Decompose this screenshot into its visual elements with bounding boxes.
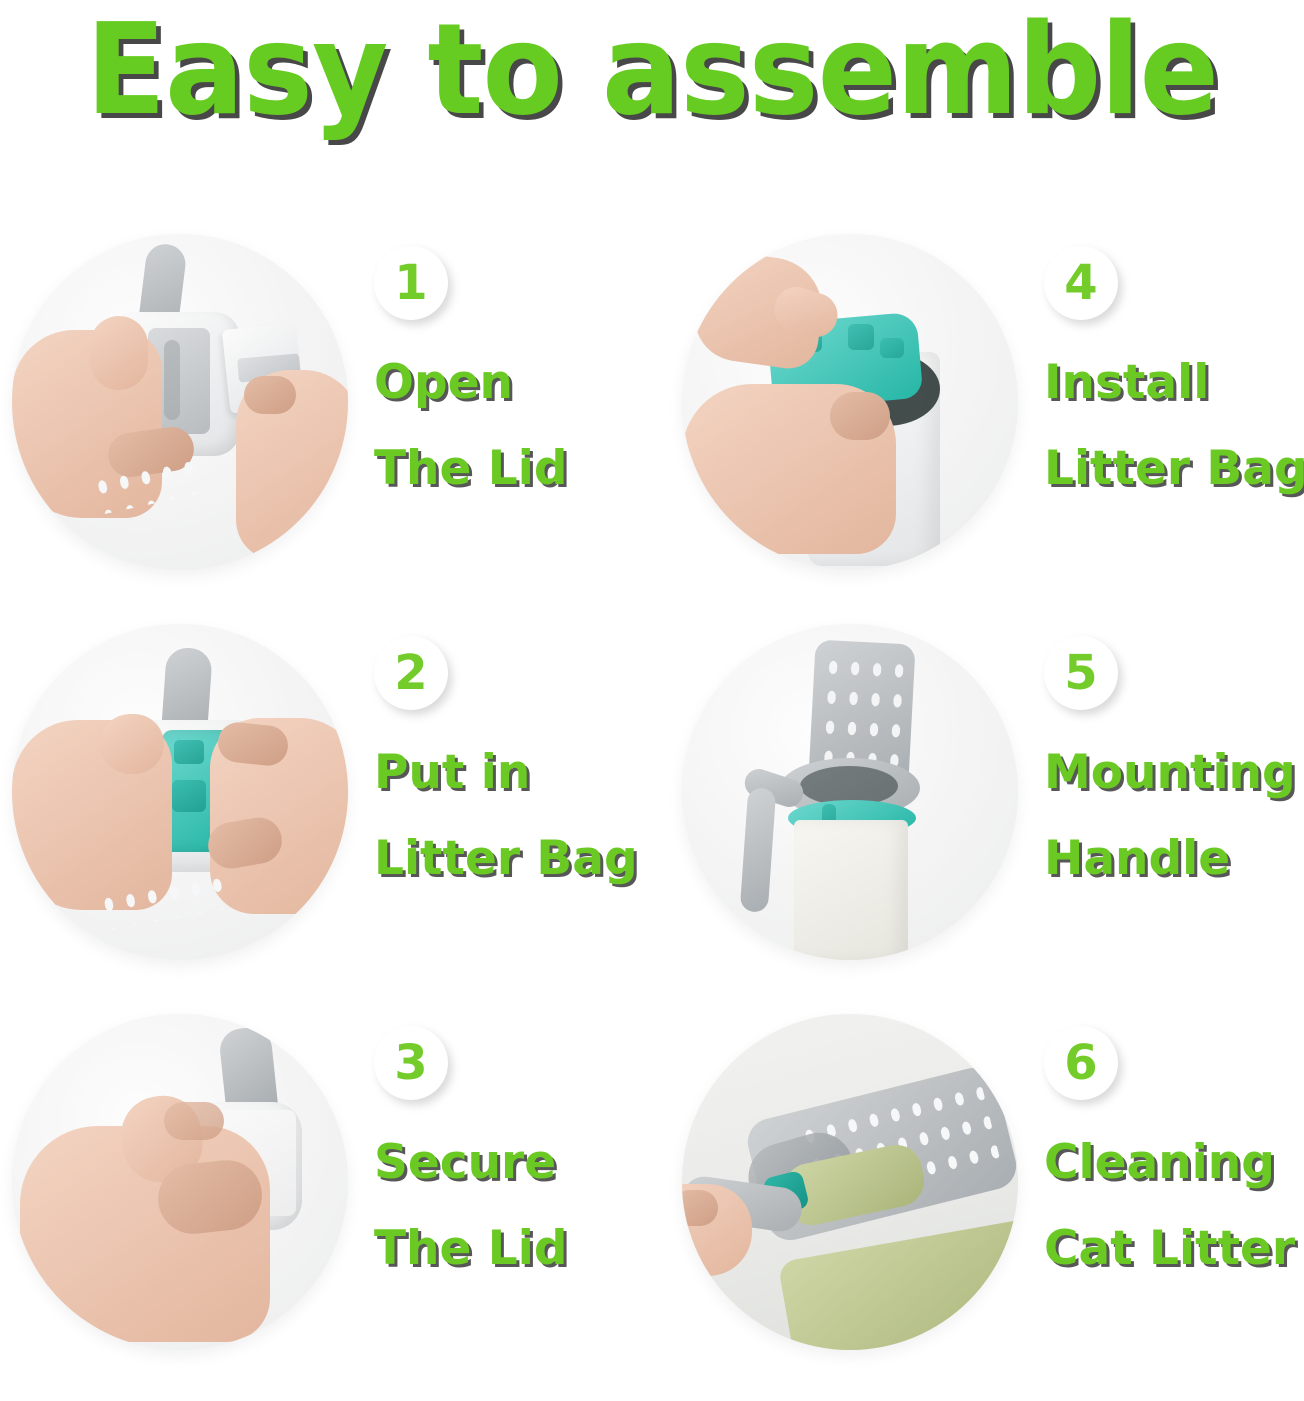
step-label-line-6a: Cleaning: [1044, 1120, 1304, 1206]
step-number-badge-4: 4: [1044, 246, 1118, 320]
step-label-line-5a: Mounting: [1044, 730, 1304, 816]
step-card-5: 5 Mounting Handle: [652, 612, 1304, 1005]
hands-installing-litter-bag-photo: [682, 234, 1018, 570]
step-photo-5: [682, 624, 1018, 960]
step-label-2: Put in Litter Bag: [374, 730, 652, 902]
step-label-4: Install Litter Bags: [1044, 340, 1304, 512]
step-number-badge-3: 3: [374, 1026, 448, 1100]
step-text-4: 4 Install Litter Bags: [1038, 222, 1304, 615]
step-number-badge-1: 1: [374, 246, 448, 320]
step-number-badge-6: 6: [1044, 1026, 1118, 1100]
step-text-6: 6 Cleaning Cat Litter: [1038, 1002, 1304, 1395]
step-row-1: 1 Open The Lid: [0, 222, 1304, 615]
step-row-2: 2 Put in Litter Bag: [0, 612, 1304, 1005]
step-label-line-6b: Cat Litter: [1044, 1206, 1304, 1292]
step-label-line-3a: Secure: [374, 1120, 652, 1206]
step-photo-2: [12, 624, 348, 960]
step-text-5: 5 Mounting Handle: [1038, 612, 1304, 1005]
step-text-2: 2 Put in Litter Bag: [368, 612, 652, 1005]
step-label-line-1a: Open: [374, 340, 652, 426]
step-label-line-2b: Litter Bag: [374, 816, 652, 902]
step-card-6: 6 Cleaning Cat Litter: [652, 1002, 1304, 1395]
scoop-mounted-on-container-photo: [682, 624, 1018, 960]
step-number-badge-5: 5: [1044, 636, 1118, 710]
step-label-line-1b: The Lid: [374, 426, 652, 512]
page-title: Easy to assemble: [46, 4, 1259, 136]
step-label-line-3b: The Lid: [374, 1206, 652, 1292]
step-card-4: 4 Install Litter Bags: [652, 222, 1304, 615]
step-number-badge-2: 2: [374, 636, 448, 710]
step-text-3: 3 Secure The Lid: [368, 1002, 652, 1395]
step-photo-6: [682, 1014, 1018, 1350]
hands-securing-lid-photo: [12, 1014, 348, 1350]
step-photo-1: [12, 234, 348, 570]
step-label-6: Cleaning Cat Litter: [1044, 1120, 1304, 1292]
step-label-line-4b: Litter Bags: [1044, 426, 1304, 512]
step-photo-4: [682, 234, 1018, 570]
step-photo-3: [12, 1014, 348, 1350]
step-label-3: Secure The Lid: [374, 1120, 652, 1292]
scoop-sifting-cat-litter-photo: [682, 1014, 1018, 1350]
step-label-line-4a: Install: [1044, 340, 1304, 426]
step-row-3: 3 Secure The Lid: [0, 1002, 1304, 1395]
step-card-1: 1 Open The Lid: [0, 222, 652, 615]
hands-opening-lid-photo: [12, 234, 348, 570]
assembly-steps-grid: 1 Open The Lid: [0, 222, 1304, 1401]
step-card-3: 3 Secure The Lid: [0, 1002, 652, 1395]
step-label-5: Mounting Handle: [1044, 730, 1304, 902]
step-label-line-2a: Put in: [374, 730, 652, 816]
step-card-2: 2 Put in Litter Bag: [0, 612, 652, 1005]
hands-inserting-bag-roll-photo: [12, 624, 348, 960]
step-text-1: 1 Open The Lid: [368, 222, 652, 615]
step-label-1: Open The Lid: [374, 340, 652, 512]
step-label-line-5b: Handle: [1044, 816, 1304, 902]
